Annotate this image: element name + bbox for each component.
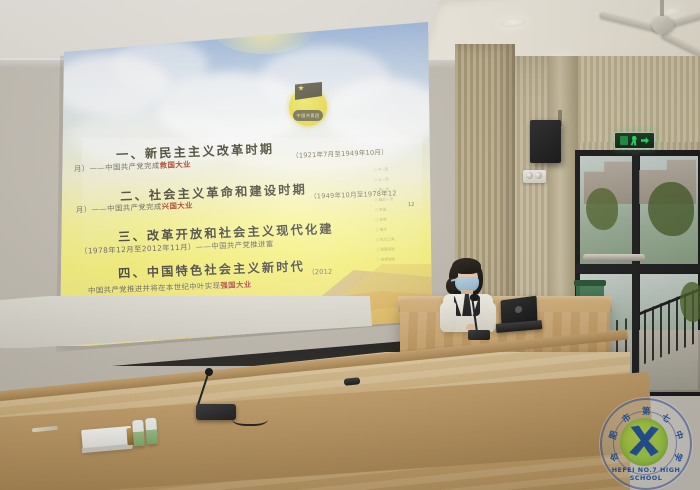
wall-speaker-icon — [530, 120, 561, 163]
slide-side-menu-item: ○ 放映 — [375, 217, 429, 222]
arm-left — [440, 302, 456, 332]
running-man-icon — [630, 136, 639, 146]
arm-right — [480, 302, 496, 332]
emblem-label: 中国共青团 — [293, 111, 323, 121]
microphone-cable — [232, 410, 268, 426]
presenter — [440, 256, 502, 328]
watermark-char: 中 — [672, 429, 686, 441]
exit-arrow-icon — [641, 137, 649, 145]
emergency-light-icon — [523, 170, 546, 183]
youth-league-emblem-icon: 中国共青团 — [287, 82, 329, 128]
slide-side-menu-item: ○ 第一页 — [374, 187, 428, 192]
slide-side-menu-item: ○ 屏幕切换 — [376, 247, 430, 252]
door-closer — [583, 254, 645, 261]
watermark-char: 肥 — [607, 429, 621, 441]
exit-sign — [614, 132, 655, 149]
desk-microphone-base — [196, 404, 236, 420]
slide-side-menu-item: ○ 批注工具 — [376, 237, 430, 242]
podium-microphone-base — [468, 330, 490, 340]
slide-side-menu-item: ○ 结束放映 — [377, 257, 431, 262]
sanitizer-bottle[interactable] — [132, 420, 145, 447]
slide-side-menu-item: ○ 上一页 — [374, 177, 428, 182]
slide-side-menu-item: ○ 备注 — [375, 227, 429, 232]
podium-microphone-head[interactable] — [470, 294, 479, 301]
wood-wall-header — [575, 56, 700, 142]
outside-trash-bin-lid — [574, 280, 606, 286]
watermark-char: 第 — [642, 405, 651, 417]
watermark-char: 市 — [619, 410, 633, 425]
slide-side-menu-item: ○ 下一页 — [373, 167, 427, 172]
watermark-char: 合 — [607, 451, 621, 463]
watermark-char: 学 — [671, 451, 685, 463]
sanitizer-bottle[interactable] — [145, 418, 158, 445]
exit-sign-bar-icon — [620, 136, 628, 145]
school-watermark-logo: 合肥市第七中学 HEFEI NO.7 HIGH SCHOOL — [600, 398, 692, 490]
watermark-char: 七 — [660, 410, 674, 425]
slide-side-menu-item: ○ 目录 — [375, 207, 429, 212]
outside-tree — [680, 282, 700, 322]
desk-microphone-head[interactable] — [205, 368, 213, 376]
slide-side-menu-item: ○ 最后一页 — [374, 197, 428, 202]
lecture-hall-photo: 中国共青团 一、新民主主义改革时期 （1921年7月至1949年10月） 月）—… — [0, 0, 700, 490]
ceiling-fan-icon — [612, 6, 700, 62]
slide-page-number: 12 — [408, 202, 415, 208]
outside-tree — [586, 188, 618, 230]
outside-tree — [648, 182, 694, 236]
door-transom — [576, 264, 700, 273]
watermark-english-text: HEFEI NO.7 HIGH SCHOOL — [602, 466, 690, 482]
slide-date-4: （2012 — [308, 266, 333, 277]
door-mullion — [632, 152, 639, 394]
